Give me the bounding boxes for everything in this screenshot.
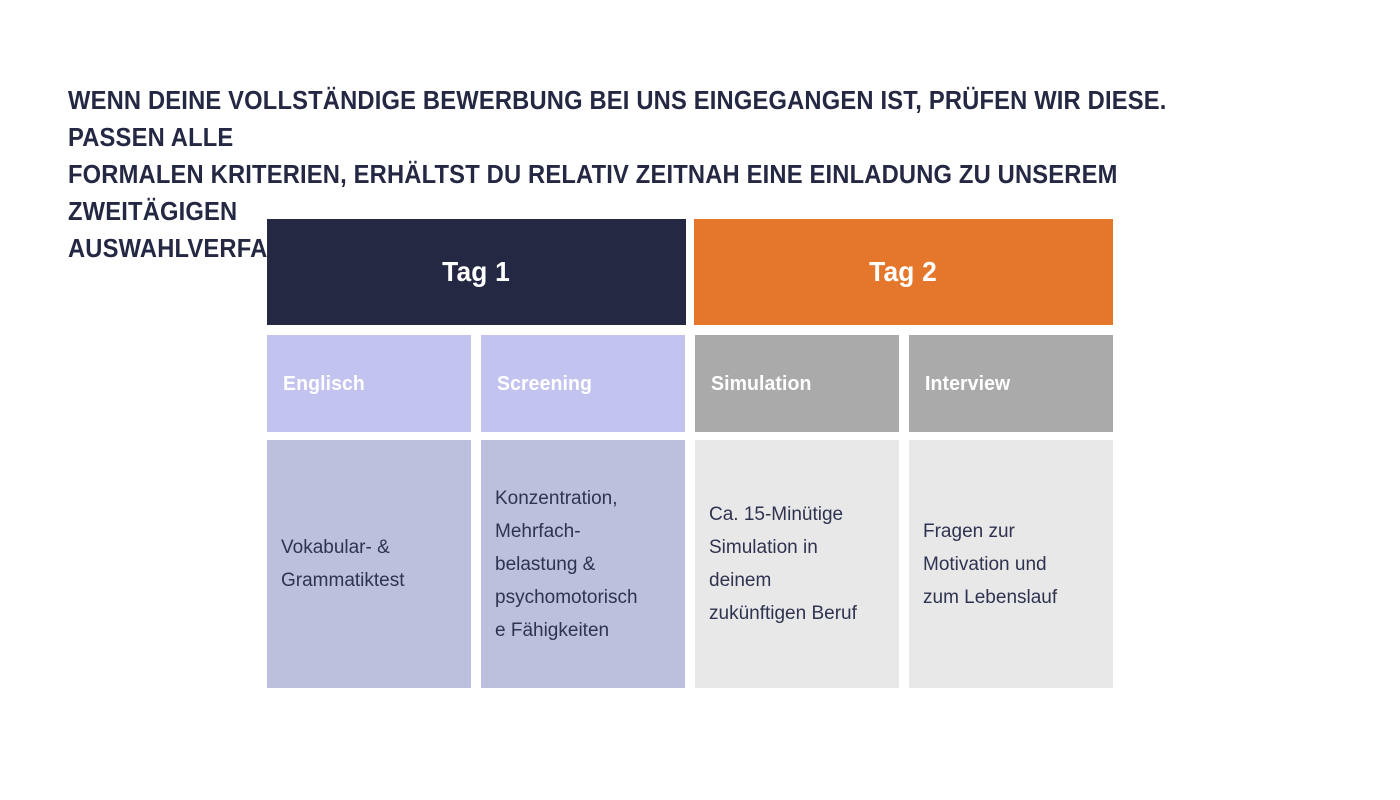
column-header-interview: Interview (909, 335, 1113, 432)
selection-process-matrix: Tag 1 Tag 2 Englisch Screening Simulatio… (267, 219, 1113, 688)
column-header-englisch: Englisch (267, 335, 471, 432)
column-body-interview: Fragen zur Motivation und zum Lebenslauf (909, 440, 1113, 688)
column-header-screening: Screening (481, 335, 685, 432)
column-header-englisch-label: Englisch (283, 372, 365, 396)
column-body-englisch: Vokabular- & Grammatiktest (267, 440, 471, 688)
day-header-tag-1-label: Tag 1 (443, 256, 511, 288)
day-header-tag-2-label: Tag 2 (870, 256, 938, 288)
column-header-screening-label: Screening (497, 372, 592, 396)
column-header-interview-label: Interview (925, 372, 1010, 396)
column-body-row: Vokabular- & Grammatiktest Konzentration… (267, 440, 1113, 688)
day-header-tag-2: Tag 2 (694, 219, 1113, 325)
day-header-tag-1: Tag 1 (267, 219, 686, 325)
column-body-simulation-text: Ca. 15-Minütige Simulation in deinem zuk… (709, 498, 887, 630)
day-header-row: Tag 1 Tag 2 (267, 219, 1113, 325)
column-header-simulation-label: Simulation (711, 372, 812, 396)
column-header-row: Englisch Screening Simulation Interview (267, 335, 1113, 432)
column-body-englisch-text: Vokabular- & Grammatiktest (281, 531, 459, 597)
column-body-simulation: Ca. 15-Minütige Simulation in deinem zuk… (695, 440, 899, 688)
column-header-simulation: Simulation (695, 335, 899, 432)
column-body-screening: Konzentration, Mehrfach- belastung & psy… (481, 440, 685, 688)
column-body-screening-text: Konzentration, Mehrfach- belastung & psy… (495, 482, 673, 647)
column-body-interview-text: Fragen zur Motivation und zum Lebenslauf (923, 515, 1101, 614)
